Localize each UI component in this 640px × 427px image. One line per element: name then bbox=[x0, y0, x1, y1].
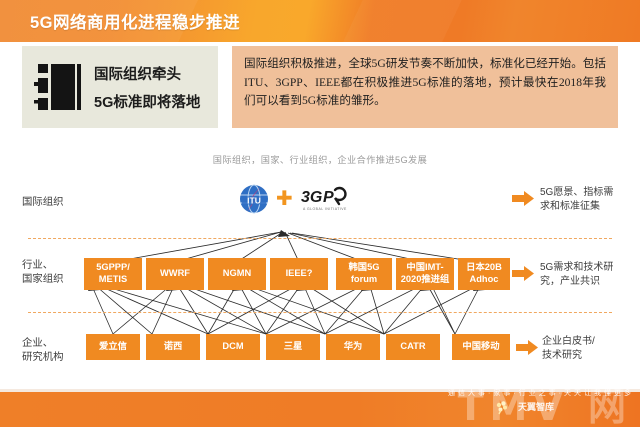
slide-footer: 通信大事·家事·行业之事·天天让我懂更多 TMV 网 天翼智库 bbox=[0, 389, 640, 427]
notebook-icon bbox=[32, 60, 86, 114]
row-label-industry: 行业、 国家组织 bbox=[22, 259, 64, 286]
brand-logo: 天翼智库 bbox=[518, 400, 554, 413]
outcome-arrow-2 bbox=[512, 266, 534, 281]
outcome-arrow-1 bbox=[512, 191, 534, 206]
node-china-mobile[interactable]: 中国移动 bbox=[452, 334, 510, 360]
slide-canvas: 5G网络商用化进程稳步推进 国际组织牵头 5G标准即将落地 bbox=[0, 0, 640, 427]
node-korea-5g-forum[interactable]: 韩国5G forum bbox=[336, 258, 392, 290]
outcome-label-1: 5G愿景、指标需 求和标准征集 bbox=[540, 186, 636, 213]
node-wwrf[interactable]: WWRF bbox=[146, 258, 204, 290]
svg-text:A GLOBAL INITIATIVE: A GLOBAL INITIATIVE bbox=[303, 207, 347, 211]
node-ngmn[interactable]: NGMN bbox=[208, 258, 266, 290]
divider-row-1 bbox=[28, 238, 612, 239]
node-ieee[interactable]: IEEE? bbox=[270, 258, 328, 290]
international-logos: ITU ✚ 3G P A GLOBAL INITIATIVE bbox=[238, 182, 360, 216]
node-dcm[interactable]: DCM bbox=[206, 334, 260, 360]
3gpp-logo: 3G P A GLOBAL INITIATIVE bbox=[299, 184, 355, 214]
callout-body: 国际组织积极推进，全球5G研发节奏不断加快，标准化已经开始。包括ITU、3GPP… bbox=[232, 46, 618, 128]
page-title: 5G网络商用化进程稳步推进 bbox=[30, 9, 240, 33]
badge-text-block: 国际组织牵头 5G标准即将落地 bbox=[94, 63, 200, 112]
ecosystem-diagram: 国际组织，国家、行业组织，企业合作推进5G发展 bbox=[0, 134, 640, 389]
row-label-enterprise: 企业、 研究机构 bbox=[22, 337, 64, 364]
node-5gppp-metis[interactable]: 5GPPP/ METIS bbox=[84, 258, 142, 290]
divider-row-2 bbox=[28, 312, 612, 313]
outcome-arrow-3 bbox=[516, 340, 538, 355]
node-huawei[interactable]: 华为 bbox=[326, 334, 380, 360]
plus-icon: ✚ bbox=[276, 189, 293, 209]
node-nsn[interactable]: 诺西 bbox=[146, 334, 200, 360]
node-japan-20b-adhoc[interactable]: 日本20B Adhoc bbox=[458, 258, 510, 290]
headline-badge: 国际组织牵头 5G标准即将落地 bbox=[22, 46, 218, 128]
badge-line-1: 国际组织牵头 bbox=[94, 63, 200, 84]
callout-band: 国际组织牵头 5G标准即将落地 国际组织积极推进，全球5G研发节奏不断加快，标准… bbox=[0, 46, 640, 128]
itu-logo: ITU bbox=[238, 183, 270, 215]
leaf-icon bbox=[494, 399, 510, 415]
outcome-label-3: 企业白皮书/ 技术研究 bbox=[542, 335, 638, 362]
node-samsung[interactable]: 三星 bbox=[266, 334, 320, 360]
svg-text:P: P bbox=[323, 189, 334, 206]
svg-text:3G: 3G bbox=[301, 189, 322, 206]
outcome-label-2: 5G需求和技术研 究，产业共识 bbox=[540, 261, 638, 288]
slide-header: 5G网络商用化进程稳步推进 bbox=[0, 0, 640, 42]
callout-body-text: 国际组织积极推进，全球5G研发节奏不断加快，标准化已经开始。包括ITU、3GPP… bbox=[244, 55, 606, 111]
row-label-international: 国际组织 bbox=[22, 196, 64, 210]
node-catr[interactable]: CATR bbox=[386, 334, 440, 360]
svg-text:ITU: ITU bbox=[247, 195, 261, 205]
node-china-imt-2020[interactable]: 中国IMT- 2020推进组 bbox=[396, 258, 454, 290]
footer-strapline: 通信大事·家事·行业之事·天天让我懂更多 bbox=[414, 388, 634, 399]
node-ericsson[interactable]: 爱立信 bbox=[86, 334, 140, 360]
badge-line-2: 5G标准即将落地 bbox=[94, 91, 200, 112]
